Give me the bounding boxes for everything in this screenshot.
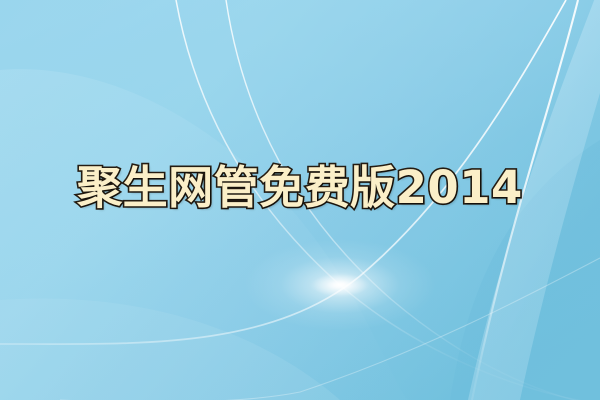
background-artwork (0, 0, 600, 400)
banner-root: 聚生网管免费版2014 (0, 0, 600, 400)
curve-intersection-glow-core (310, 274, 370, 296)
